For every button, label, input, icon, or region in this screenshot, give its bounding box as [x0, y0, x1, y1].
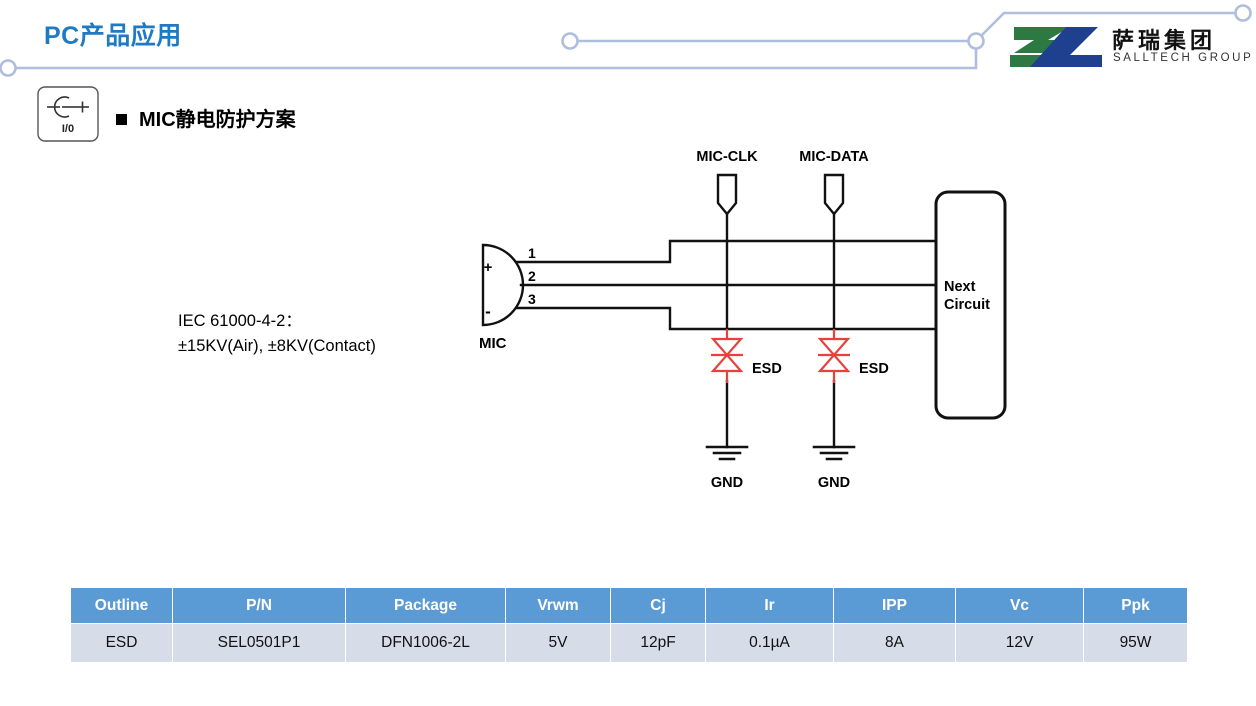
signal-label-mic-data: MIC-DATA	[799, 149, 869, 165]
signal-flag-mic-clk	[718, 175, 736, 214]
table-header-package: Package	[346, 588, 506, 624]
section-heading: MIC静电防护方案	[116, 103, 296, 132]
table-header-vrwm: Vrwm	[506, 588, 611, 624]
mic-esd-schematic: + - MIC 1 2 3 MIC-CLK MIC-DATA ESD ESD G…	[455, 135, 1035, 515]
esd-label-1: ESD	[752, 361, 782, 377]
cell-ppk: 95W	[1084, 624, 1188, 663]
table-header-ipp: IPP	[834, 588, 956, 624]
table-header-ir: Ir	[706, 588, 834, 624]
deco-node-left	[1, 61, 16, 76]
logo-mark-icon	[1008, 25, 1104, 69]
gnd-label-1: GND	[711, 475, 743, 491]
table-header-outline: Outline	[71, 588, 173, 624]
mic-minus-label: -	[485, 302, 491, 321]
esd-standard-line1: IEC 61000-4-2：	[178, 309, 376, 334]
cell-vc: 12V	[956, 624, 1084, 663]
cell-cj: 12pF	[611, 624, 706, 663]
io-badge-icon: I/0	[36, 85, 100, 143]
esd-standard-note: IEC 61000-4-2： ±15KV(Air), ±8KV(Contact)	[178, 309, 376, 359]
brand-logo: 萨瑞集团 SALLTECH GROUP	[1008, 22, 1248, 74]
esd-label-2: ESD	[859, 361, 889, 377]
esd-diode-2	[818, 339, 850, 371]
signal-label-mic-clk: MIC-CLK	[696, 149, 758, 165]
table-header-ppk: Ppk	[1084, 588, 1188, 624]
esd-diode-1	[711, 339, 743, 371]
cell-vrwm: 5V	[506, 624, 611, 663]
io-badge-label: I/0	[62, 123, 74, 135]
logo-name-cn: 萨瑞集团	[1112, 23, 1216, 55]
table-row: ESD SEL0501P1 DFN1006-2L 5V 12pF 0.1µA 8…	[71, 624, 1188, 663]
table-header-cj: Cj	[611, 588, 706, 624]
next-circuit-line1: Next	[944, 279, 976, 295]
pin-2-label: 2	[528, 268, 536, 284]
logo-name-en: SALLTECH GROUP	[1113, 52, 1253, 64]
table-header-pn: P/N	[173, 588, 346, 624]
deco-node-right	[1236, 6, 1251, 21]
signal-flag-mic-data	[825, 175, 843, 214]
table-header-row: Outline P/N Package Vrwm Cj Ir IPP Vc Pp…	[71, 588, 1188, 624]
next-circuit-line2: Circuit	[944, 297, 990, 313]
esd-standard-line2: ±15KV(Air), ±8KV(Contact)	[178, 334, 376, 359]
cell-ir: 0.1µA	[706, 624, 834, 663]
pin-1-label: 1	[528, 245, 536, 261]
pin-3-label: 3	[528, 291, 536, 307]
page-title: PC产品应用	[44, 16, 182, 52]
deco-node-junction	[969, 34, 984, 49]
product-spec-table: Outline P/N Package Vrwm Cj Ir IPP Vc Pp…	[70, 587, 1188, 663]
mic-plus-label: +	[484, 259, 493, 276]
deco-node-mid	[563, 34, 578, 49]
cell-package: DFN1006-2L	[346, 624, 506, 663]
table-header-vc: Vc	[956, 588, 1084, 624]
gnd-label-2: GND	[818, 475, 850, 491]
cell-ipp: 8A	[834, 624, 956, 663]
section-heading-label: MIC静电防护方案	[139, 109, 296, 131]
cell-pn: SEL0501P1	[173, 624, 346, 663]
cell-outline: ESD	[71, 624, 173, 663]
mic-label: MIC	[479, 335, 507, 352]
bullet-square-icon	[116, 114, 127, 125]
